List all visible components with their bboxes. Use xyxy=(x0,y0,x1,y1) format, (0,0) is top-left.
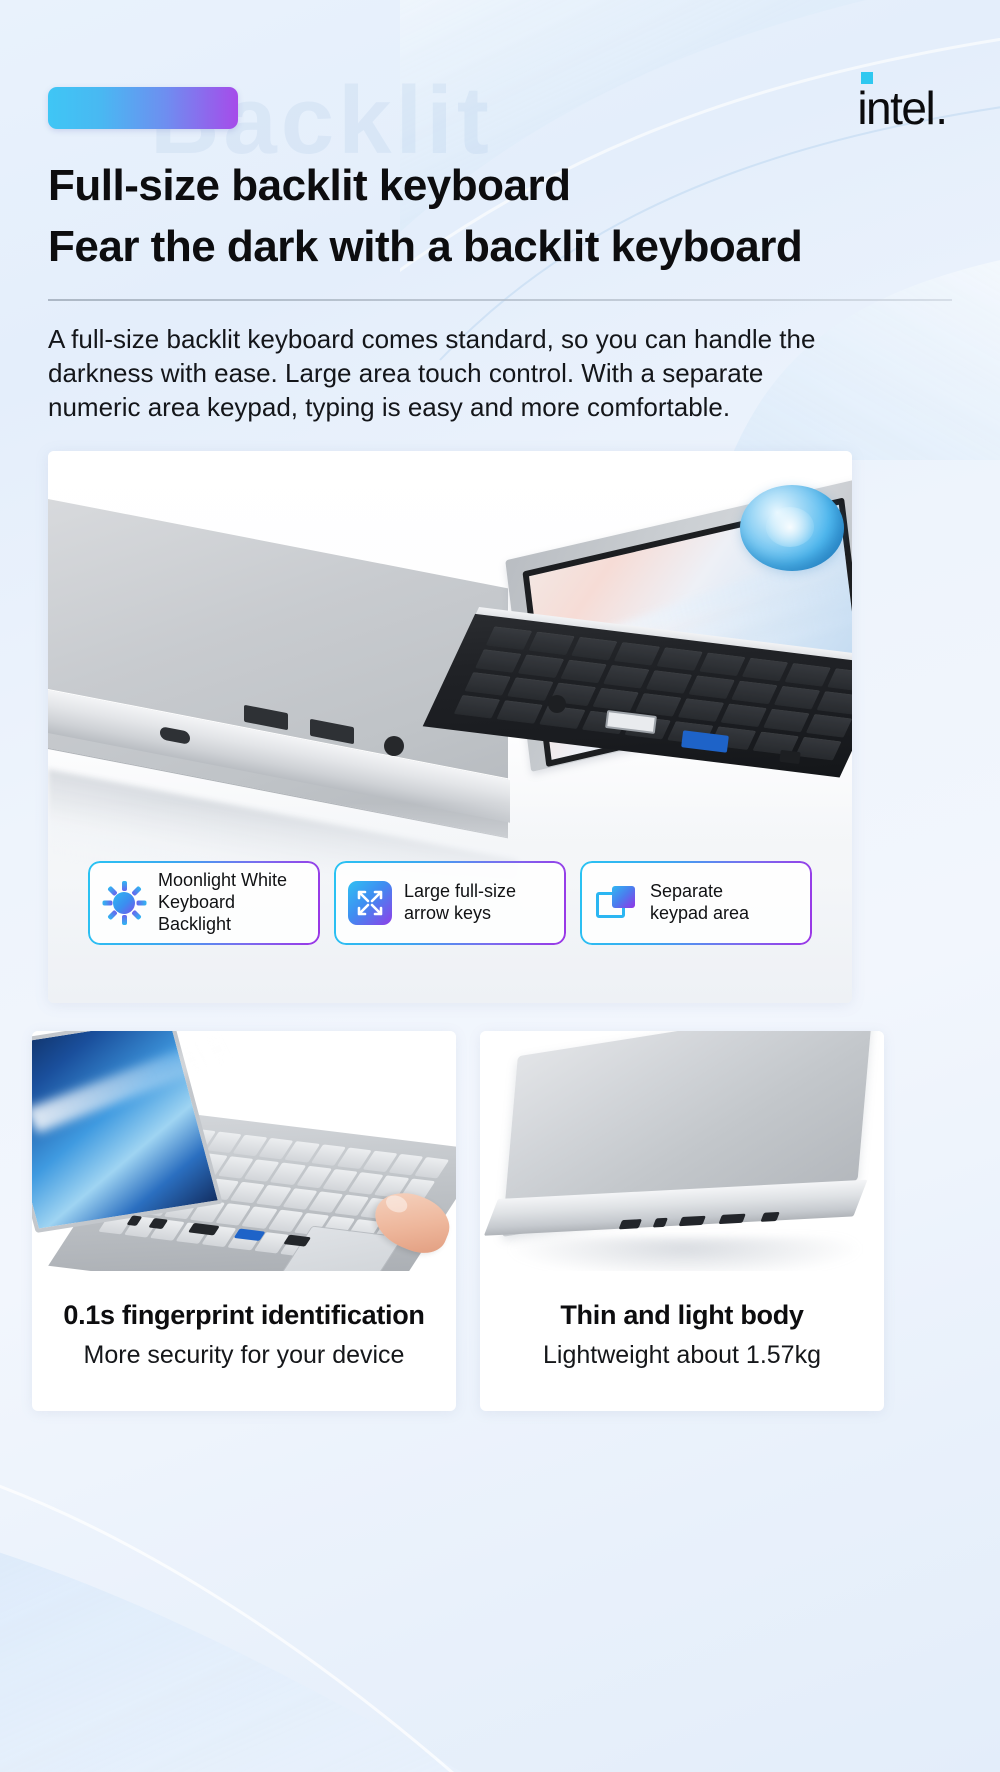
badge-label-line-1: Large full-size xyxy=(404,881,516,903)
headphone-jack xyxy=(384,736,404,756)
badge-label-line-1: Moonlight White xyxy=(158,870,306,892)
badge-label-line-1: Separate xyxy=(650,881,749,903)
card-title: 0.1s fingerprint identification xyxy=(63,1300,424,1331)
page-header: intel . xyxy=(48,0,952,108)
feature-card-fingerprint[interactable]: 0.1s fingerprint identification More sec… xyxy=(32,1031,456,1411)
expand-arrows-icon xyxy=(348,881,392,925)
keypad-area-icon xyxy=(594,881,638,925)
laptop-closed-thin-lid-photo xyxy=(480,1031,884,1271)
feature-card-row: 0.1s fingerprint identification More sec… xyxy=(48,1031,952,1411)
badge-label-line-2: arrow keys xyxy=(404,903,516,925)
page-title-line-2: Fear the dark with a backlit keyboard xyxy=(48,217,952,278)
badge-label-line-2: keypad area xyxy=(650,903,749,925)
badge-label-group: Large full-size arrow keys xyxy=(404,881,516,925)
closed-laptop-shadow xyxy=(510,1237,860,1271)
feature-card-thin-light[interactable]: Thin and light body Lightweight about 1.… xyxy=(480,1031,884,1411)
product-page: Backlit intel . Full-size backli xyxy=(0,0,1000,1772)
title-divider xyxy=(48,299,952,301)
intel-period: . xyxy=(935,85,948,131)
open-laptop-screen xyxy=(32,1031,223,1233)
body-paragraph: A full-size backlit keyboard comes stand… xyxy=(48,323,848,424)
badge-label-line-2: Keyboard Backlight xyxy=(158,892,306,936)
heading-block: Full-size backlit keyboard Fear the dark… xyxy=(48,156,952,277)
page-content: intel . Full-size backlit keyboard Fear … xyxy=(0,0,1000,1411)
card-subtitle: More security for your device xyxy=(84,1341,405,1370)
intel-i-dot-icon xyxy=(861,72,873,84)
card-caption: 0.1s fingerprint identification More sec… xyxy=(32,1271,456,1411)
badge-large-arrow-keys[interactable]: Large full-size arrow keys xyxy=(334,861,566,945)
badge-label-group: Moonlight White Keyboard Backlight xyxy=(158,870,306,936)
sun-brightness-icon xyxy=(102,881,146,925)
hero-image-card: Moonlight White Keyboard Backlight xyxy=(48,451,852,1003)
intel-logo: intel . xyxy=(857,85,952,131)
feature-badge-row: Moonlight White Keyboard Backlight xyxy=(88,861,812,945)
accent-pill xyxy=(48,87,238,129)
badge-moonlight-white-backlight[interactable]: Moonlight White Keyboard Backlight xyxy=(88,861,320,945)
page-title-line-1: Full-size backlit keyboard xyxy=(48,156,952,217)
background-swoosh-bottom-left xyxy=(0,1392,600,1772)
card-title: Thin and light body xyxy=(560,1300,803,1331)
card-caption: Thin and light body Lightweight about 1.… xyxy=(480,1271,884,1411)
card-subtitle: Lightweight about 1.57kg xyxy=(543,1341,821,1370)
badge-label-group: Separate keypad area xyxy=(650,881,749,925)
laptop-fingerprint-touchpad-photo xyxy=(32,1031,456,1271)
badge-separate-keypad-area[interactable]: Separate keypad area xyxy=(580,861,812,945)
intel-wordmark: intel xyxy=(857,85,934,131)
lock-slot xyxy=(779,750,800,764)
blue-glass-decoration xyxy=(740,485,844,571)
